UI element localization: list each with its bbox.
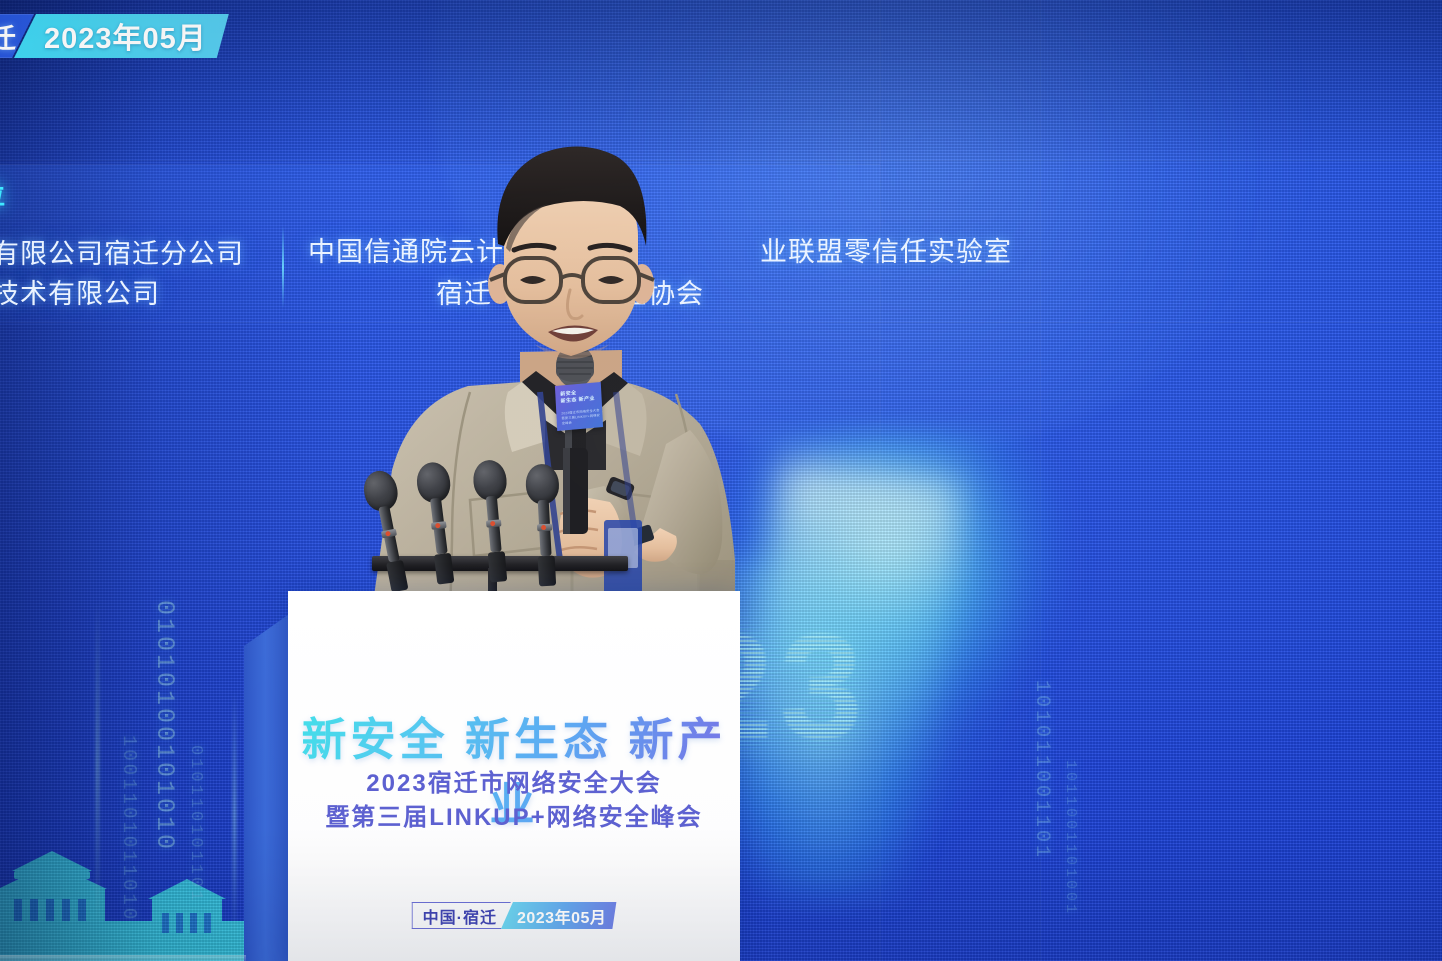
mic-flag-subtitle: 2023宿迁市网络安全大会 暨第三届LINKUP+网络安全峰会 bbox=[561, 408, 603, 426]
conference-stage-photo: 01010100101010 1001101011010 01011010110… bbox=[0, 0, 1442, 961]
podium-subtitle: 2023宿迁市网络安全大会 暨第三届LINKUP+网络安全峰会 bbox=[288, 767, 740, 835]
microphone-body bbox=[538, 500, 552, 556]
microphone-head-icon bbox=[472, 459, 508, 502]
microphone-body bbox=[430, 498, 448, 555]
microphone-base bbox=[386, 560, 408, 593]
podium-side-panel bbox=[244, 612, 292, 961]
microphone-base bbox=[488, 551, 508, 582]
microphone-head-icon bbox=[525, 463, 560, 505]
podium-subtitle-line-1: 2023宿迁市网络安全大会 bbox=[288, 767, 740, 801]
microphone-base bbox=[538, 556, 557, 587]
press-microphone bbox=[525, 463, 564, 587]
speaker-head bbox=[488, 146, 654, 359]
mic-flag-title: 新安全 新生态 新产业 bbox=[560, 389, 595, 406]
microphone-body bbox=[486, 496, 502, 553]
microphone-base bbox=[434, 553, 455, 585]
podium-subtitle-line-2: 暨第三届LINKUP+网络安全峰会 bbox=[288, 801, 740, 835]
podium-badge-place: 中国·宿迁 bbox=[412, 902, 511, 929]
podium-location-date-badge: 中国·宿迁 2023年05月 bbox=[412, 902, 617, 929]
podium-badge-date: 2023年05月 bbox=[501, 902, 616, 929]
microphone-flag: 新安全 新生态 新产业 2023宿迁市网络安全大会 暨第三届LINKUP+网络安… bbox=[555, 382, 603, 431]
stage-floor-edge bbox=[0, 955, 246, 961]
podium-front-panel: 新安全 新生态 新产业 2023宿迁市网络安全大会 暨第三届LINKUP+网络安… bbox=[288, 591, 740, 961]
microphone-body bbox=[378, 505, 399, 562]
